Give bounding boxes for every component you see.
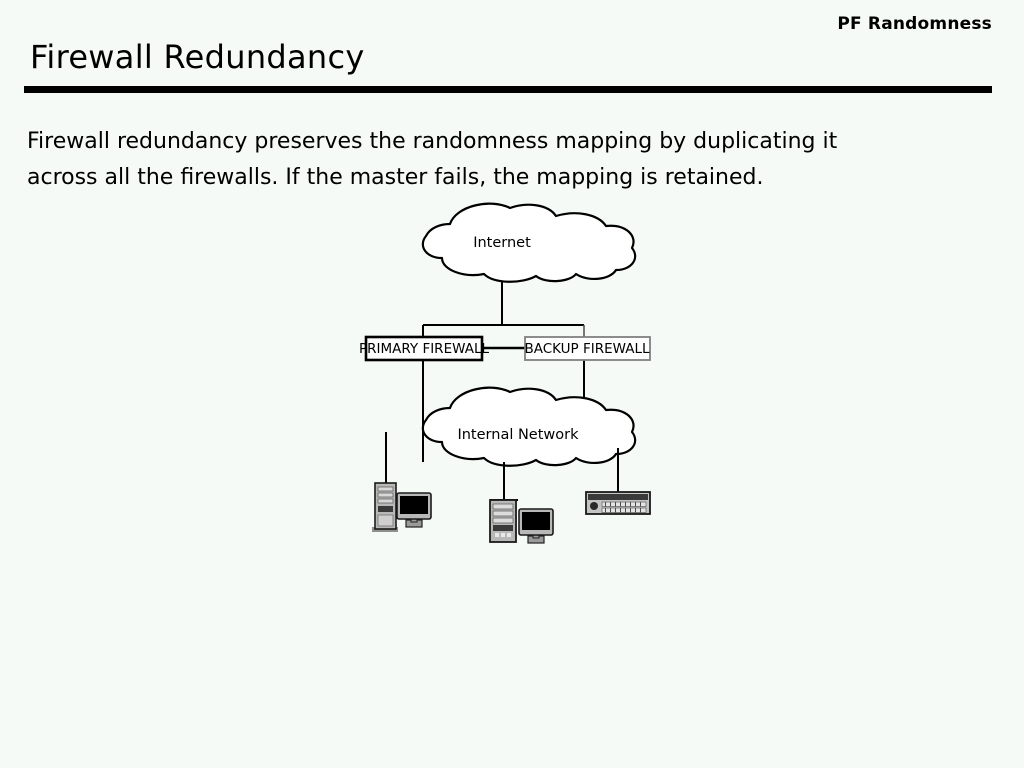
network-diagram: Internet PRIMARY FIREWALL BACKUP FIREWAL… xyxy=(330,200,694,560)
server-bay-2 xyxy=(493,511,513,516)
body-line-2: across all the firewalls. If the master … xyxy=(27,160,927,196)
server-pc[interactable] xyxy=(490,500,553,543)
switch-port-row-bottom xyxy=(602,508,646,513)
workstation-drive-bay-1 xyxy=(378,487,393,491)
backup-firewall-label: BACKUP FIREWALL xyxy=(524,341,650,357)
workstation-monitor-screen xyxy=(400,496,428,514)
server-bay-1 xyxy=(493,504,513,509)
server-bay-3 xyxy=(493,518,513,523)
server-led-1 xyxy=(495,533,499,537)
internal-network-cloud: Internal Network xyxy=(423,388,635,466)
network-switch[interactable] xyxy=(586,492,650,514)
workstation-drive-bay-2 xyxy=(378,493,393,497)
server-led-2 xyxy=(501,533,505,537)
server-control-panel xyxy=(493,525,513,531)
switch-port-row-top xyxy=(602,502,646,507)
page-title: Firewall Redundancy xyxy=(30,38,365,76)
switch-top-bar xyxy=(588,494,648,500)
internet-cloud-label: Internet xyxy=(473,235,531,251)
workstation-drive-bay-3 xyxy=(378,499,393,503)
body-text: Firewall redundancy preserves the random… xyxy=(27,124,927,196)
server-monitor-screen xyxy=(522,512,550,530)
server-led-3 xyxy=(507,533,511,537)
slide-kicker: PF Randomness xyxy=(837,14,992,34)
body-line-1: Firewall redundancy preserves the random… xyxy=(27,124,927,160)
title-divider xyxy=(24,86,992,93)
backup-firewall[interactable]: BACKUP FIREWALL xyxy=(524,337,650,360)
workstation-power-panel xyxy=(378,506,393,512)
primary-firewall-label: PRIMARY FIREWALL xyxy=(359,341,489,357)
slide: PF Randomness Firewall Redundancy Firewa… xyxy=(0,0,1024,768)
primary-firewall[interactable]: PRIMARY FIREWALL xyxy=(359,337,489,360)
switch-status-led xyxy=(590,502,598,510)
workstation-pc[interactable] xyxy=(372,483,431,532)
internet-cloud: Internet xyxy=(423,204,635,282)
workstation-vent-grille xyxy=(378,515,393,526)
internal-cloud-label: Internal Network xyxy=(457,427,579,443)
